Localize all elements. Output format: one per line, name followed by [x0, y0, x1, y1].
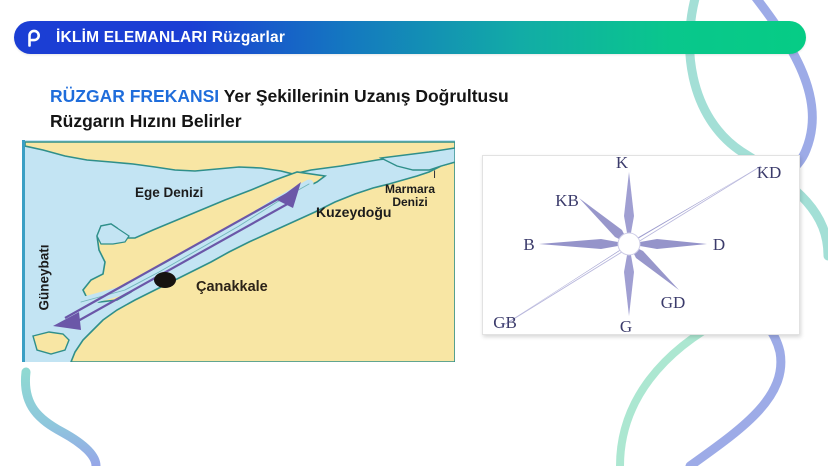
map-label-ege-denizi: Ege Denizi	[135, 185, 203, 200]
compass-label-kb: KB	[555, 191, 579, 210]
page-title: RÜZGAR FREKANSI Yer Şekillerinin Uzanış …	[50, 84, 750, 134]
compass-label-kd: KD	[757, 163, 782, 182]
compass-label-b: B	[523, 235, 534, 254]
map-label-marmara-denizi: Marmara Denizi	[385, 183, 435, 209]
slide-canvas: İKLİM ELEMANLARI Rüzgarlar RÜZGAR FREKAN…	[0, 0, 828, 466]
page-title-highlight: RÜZGAR FREKANSI	[50, 86, 219, 106]
compass-label-gb: GB	[493, 313, 517, 332]
page-title-line2: Rüzgarın Hızını Belirler	[50, 111, 242, 131]
compass-label-g: G	[620, 317, 632, 334]
compass-label-k: K	[616, 156, 629, 172]
map-label-guneybati: Güneybatı	[37, 244, 52, 310]
compass-label-d: D	[713, 235, 725, 254]
map-edge-mark: I	[433, 170, 436, 180]
header-title: İKLİM ELEMANLARI Rüzgarlar	[56, 29, 285, 47]
pin-logo-icon	[20, 25, 46, 51]
compass-label-gd: GD	[661, 293, 686, 312]
map-label-canakkale: Çanakkale	[196, 279, 268, 295]
map-label-marmara-line1: Marmara	[385, 182, 435, 196]
canakkale-strait-map: Ege Denizi Marmara Denizi Kuzeydoğu Çana…	[22, 140, 455, 362]
map-label-marmara-line2: Denizi	[392, 195, 427, 209]
page-title-rest: Yer Şekillerinin Uzanış Doğrultusu	[219, 86, 508, 106]
map-label-kuzeydogu: Kuzeydoğu	[316, 204, 391, 220]
wind-rose-card: K KD D GD G GB B KB	[482, 155, 800, 335]
title-bar: İKLİM ELEMANLARI Rüzgarlar	[14, 21, 806, 54]
